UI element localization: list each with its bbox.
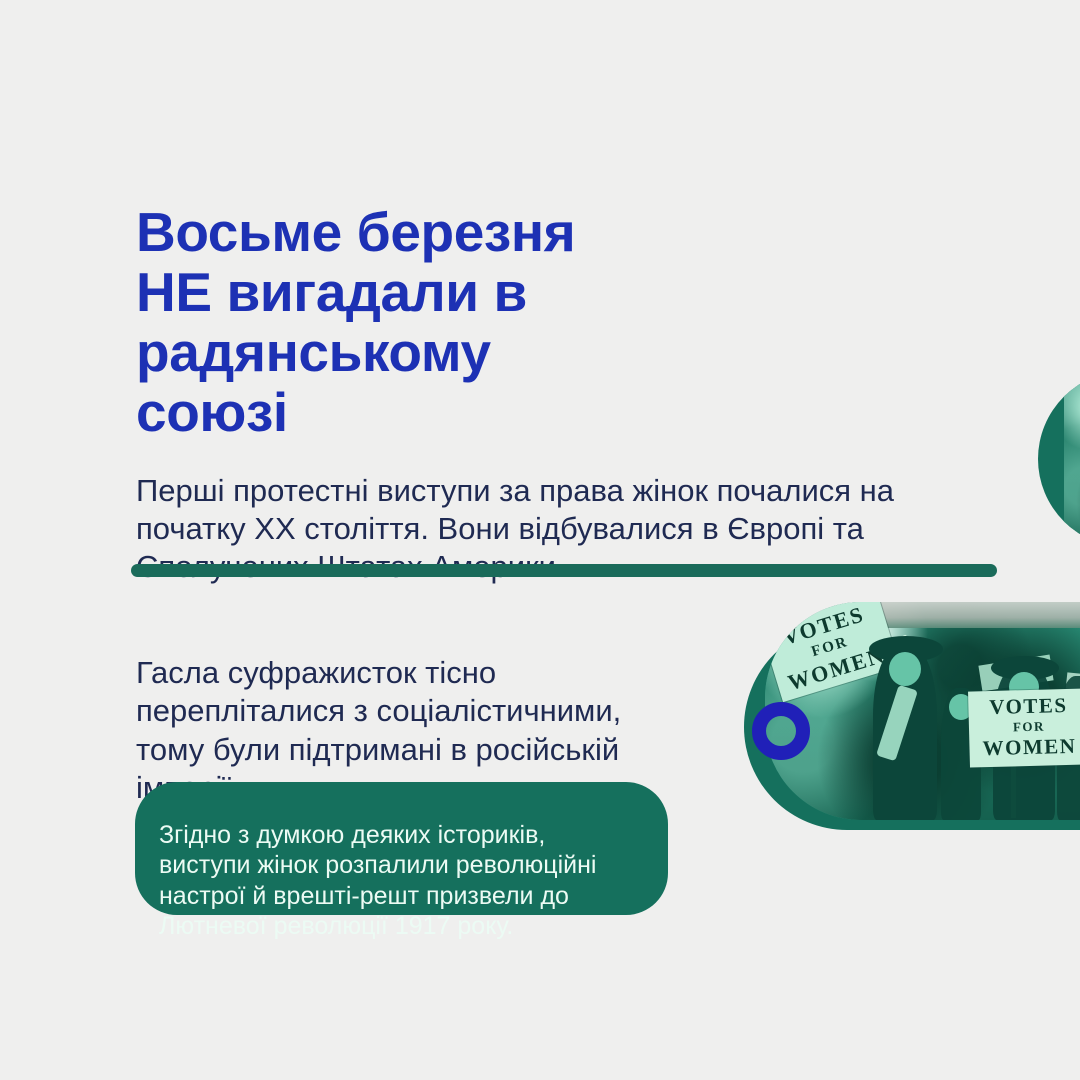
slide-canvas: Восьме березня НЕ вигадали в радянському… [0,0,1080,1080]
photo-duotone-layer: VOTES FOR WOMEN VOTES FOR WOMEN [765,602,1080,820]
callout-card: Згідно з думкою деяких істориків, виступ… [135,782,668,915]
page-title: Восьме березня НЕ вигадали в радянському… [136,203,736,443]
blue-ring-accent [752,702,810,760]
duotone-texture [1064,371,1080,547]
callout-text: Згідно з думкою деяких істориків, виступ… [159,820,649,941]
top-right-pill-photo [1064,371,1080,547]
sign-right-line1: VOTES [968,692,1080,720]
section-divider [131,564,997,577]
protest-sign-right: VOTES FOR WOMEN [968,688,1080,767]
face-shape [889,652,921,686]
sign-right-line3: WOMEN [969,733,1080,761]
sign-pole-icon [1011,762,1016,818]
suffragette-photo: VOTES FOR WOMEN VOTES FOR WOMEN [765,602,1080,820]
decor-top-right-pill [1038,371,1080,547]
